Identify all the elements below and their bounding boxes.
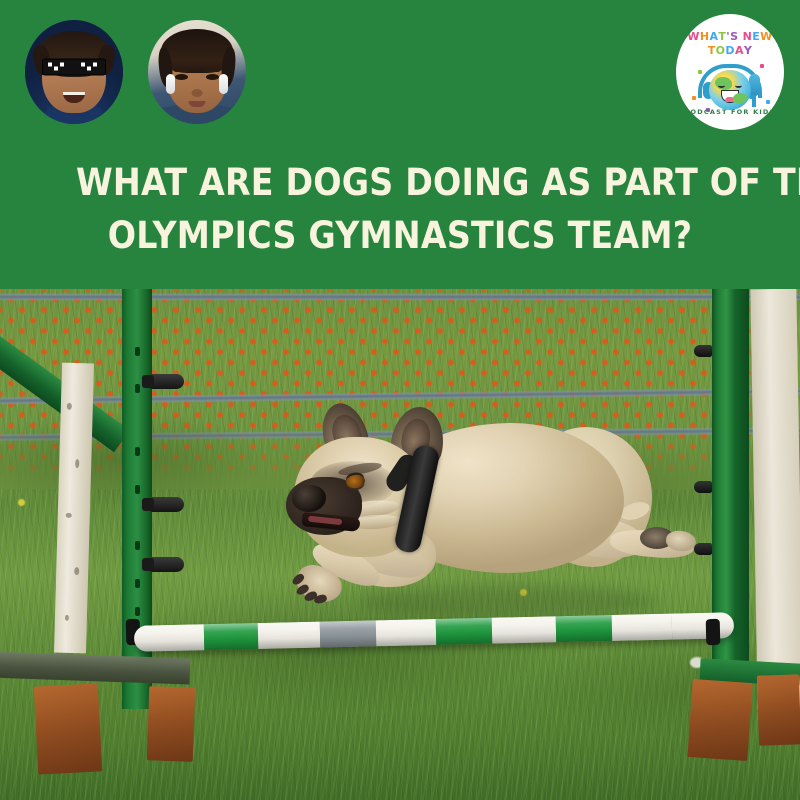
jump-standard-right-post-back [735,289,749,719]
dog-nose [292,485,326,512]
podcast-logo: WHAT'S NEW TODAY PODCAST FOR KIDS [676,14,784,130]
jump-bar-cap-right [706,619,721,645]
jump-cup-left-3 [150,557,184,572]
logo-line-2: TODAY [676,44,784,57]
logo-line-1: WHAT'S NEW [676,30,784,43]
host-avatar-2 [148,20,246,124]
page-title: WHAT ARE DOGS DOING AS PART OF THE US OL… [76,156,724,262]
globe-mascot-icon [709,70,751,110]
title-line-2: OLYMPICS GYMNASTICS TEAM? [76,209,724,262]
wood-block-left-1 [34,683,103,774]
earbud-right-icon [219,74,228,94]
logo-tagline: PODCAST FOR KIDS [676,108,784,116]
deal-with-it-sunglasses-icon [43,59,105,74]
dandelion-3 [18,499,25,506]
dog-agility-jump-photo [0,289,800,800]
header-band: WHAT'S NEW TODAY PODCAST FOR KIDS WHAT A… [0,0,800,289]
title-line-1: WHAT ARE DOGS DOING AS PART OF THE US [76,156,724,209]
jump-cup-left-2 [150,497,184,512]
jump-cup-right-1 [694,345,712,357]
wood-block-right-1 [687,679,752,761]
earbud-left-icon [166,74,175,94]
podcast-episode-thumbnail: WHAT'S NEW TODAY PODCAST FOR KIDS WHAT A… [0,0,800,800]
jump-cup-right-2 [694,481,712,493]
wood-block-left-2 [147,686,196,762]
host-avatar-1 [25,20,123,124]
dog-shadow [358,585,658,619]
jump-cup-right-3 [694,543,712,555]
jump-cup-left-1 [150,374,184,389]
jump-standard-right-white-plank [750,289,800,709]
wood-block-right-2 [757,674,800,745]
